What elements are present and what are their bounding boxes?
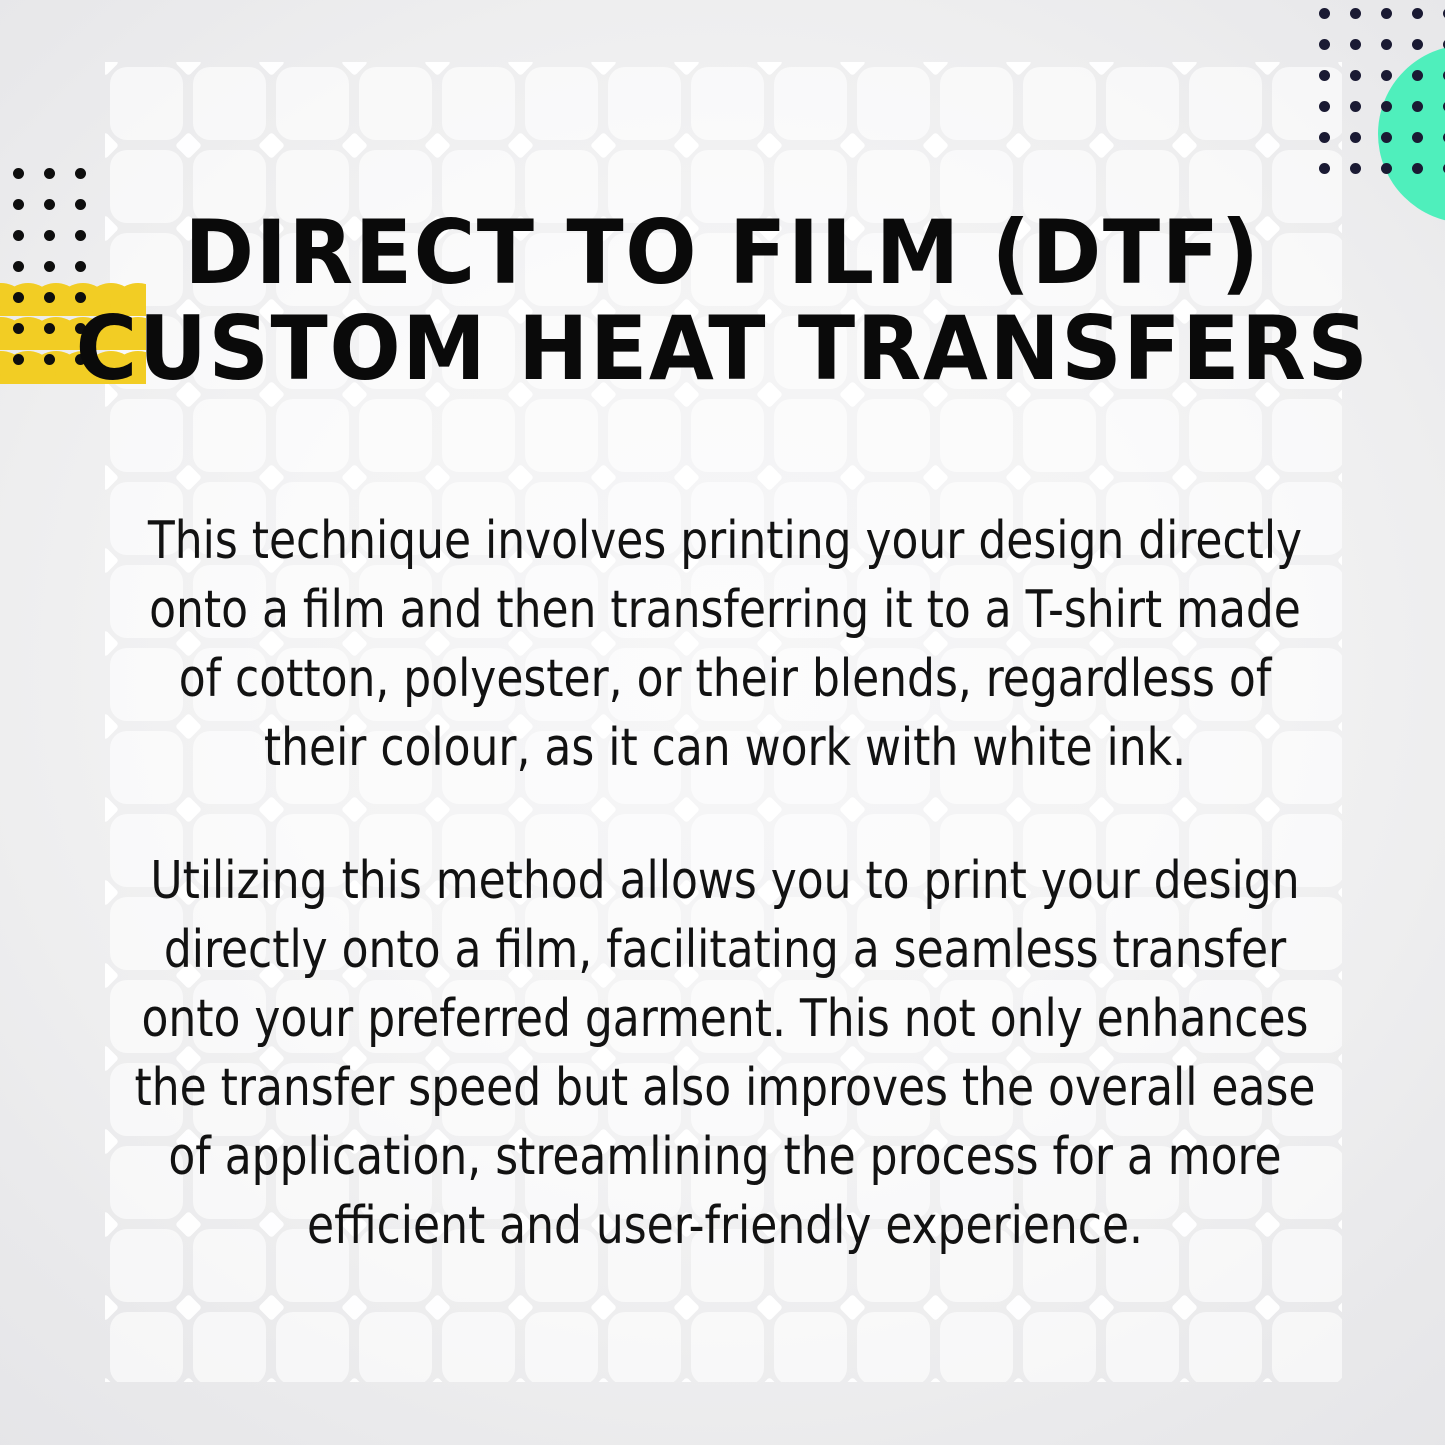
body-paragraph-2: Utilizing this method allows you to prin… [134,847,1317,1261]
page-title-line-2: CUSTOM HEAT TRANSFERS [52,301,1393,397]
poster-canvas: DIRECT TO FILM (DTF) CUSTOM HEAT TRANSFE… [0,0,1445,1445]
poster-content: DIRECT TO FILM (DTF) CUSTOM HEAT TRANSFE… [0,0,1445,1445]
page-title-line-1: DIRECT TO FILM (DTF) [52,205,1393,301]
body-paragraph-1: This technique involves printing your de… [134,507,1317,783]
page-title: DIRECT TO FILM (DTF) CUSTOM HEAT TRANSFE… [52,205,1393,397]
